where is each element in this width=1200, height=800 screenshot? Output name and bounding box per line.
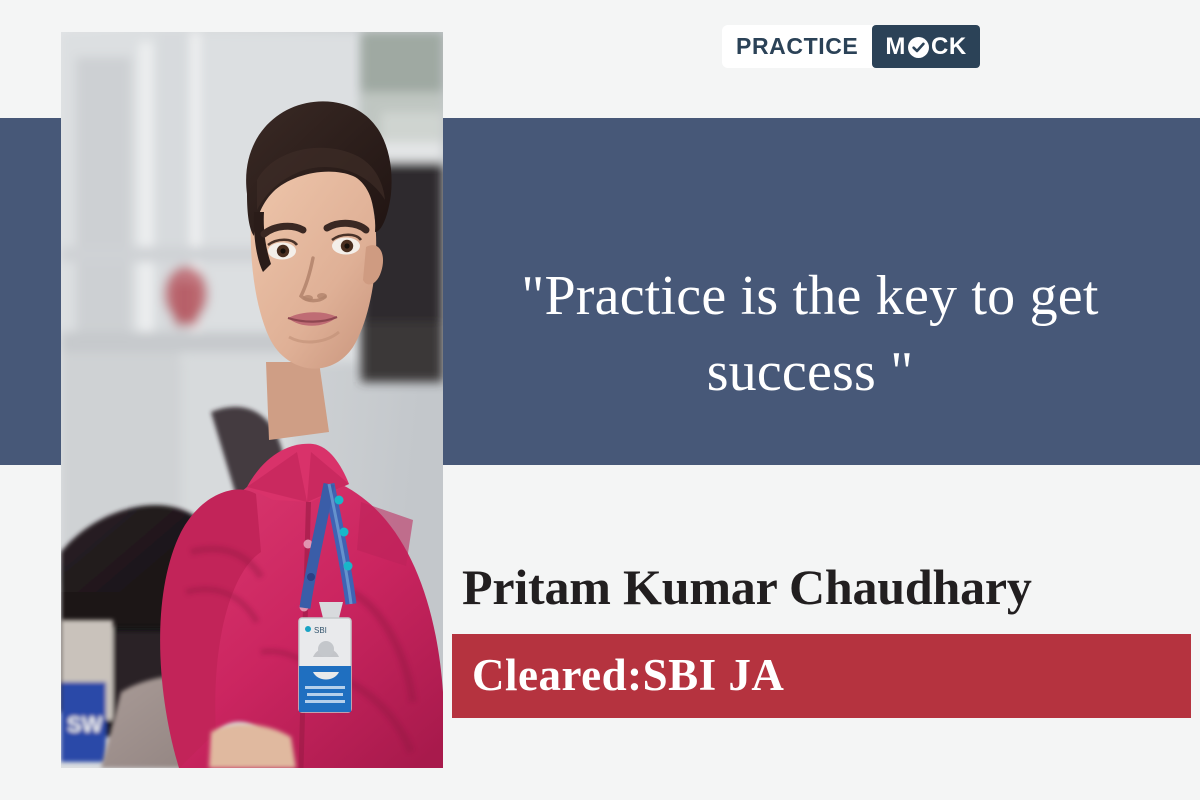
svg-text:SW: SW <box>67 712 103 737</box>
quote-text: "Practice is the key to get success " <box>460 258 1160 410</box>
candidate-name: Pritam Kumar Chaudhary <box>462 558 1032 616</box>
logo-mock-suffix: CK <box>931 33 967 61</box>
logo-mock-text: M CK <box>885 33 966 61</box>
logo-mock-badge: M CK <box>872 25 979 68</box>
testimonial-card: "Practice is the key to get success " PR… <box>0 0 1200 800</box>
logo-practice-text: PRACTICE <box>736 33 872 60</box>
cleared-exam-bar: Cleared:SBI JA <box>452 634 1191 718</box>
check-circle-icon <box>908 37 929 58</box>
logo-mock-prefix: M <box>885 33 906 61</box>
svg-text:SBI: SBI <box>314 626 327 635</box>
cleared-exam-label: Cleared:SBI JA <box>472 649 784 701</box>
candidate-photo: SW <box>61 32 443 768</box>
practicemock-logo: PRACTICE M CK <box>722 25 980 68</box>
